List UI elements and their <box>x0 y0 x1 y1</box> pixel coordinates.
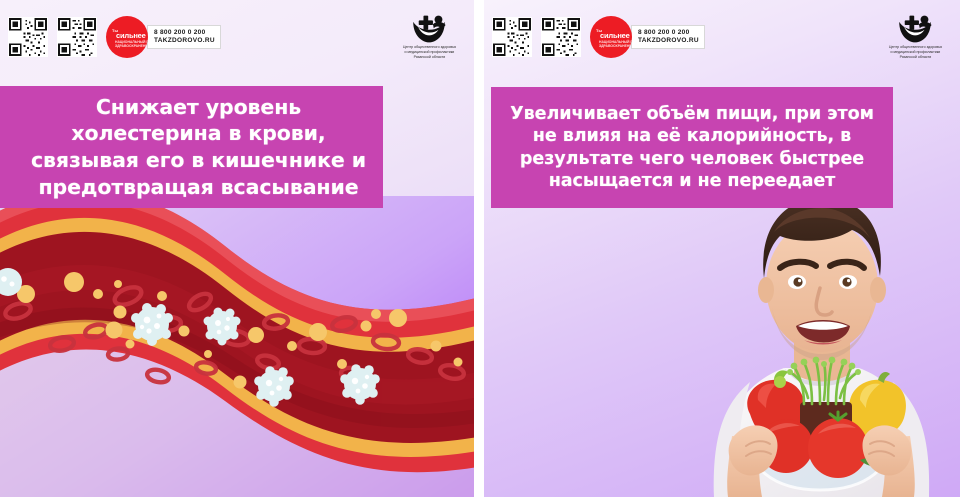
brand-website[interactable]: TAKZDOROVO.RU <box>154 37 215 45</box>
hotline-phone[interactable]: 8 800 200 0 200 <box>154 29 215 37</box>
health-center-logo-icon <box>410 14 448 44</box>
headline-banner-right: Увеличивает объём пищи, при этом не влия… <box>491 87 893 208</box>
headline-text-right: Увеличивает объём пищи, при этом не влия… <box>491 103 893 192</box>
qr-code-icon-1[interactable] <box>492 17 532 57</box>
qr-code-icon-1[interactable] <box>8 17 48 57</box>
ty-silnee-logo-icon[interactable]: Ты сильнее НАЦИОНАЛЬНЫЙ ПРОЕКТ ЗДРАВООХР… <box>106 16 148 58</box>
logo-line-4: ЗДРАВООХРАНЕНИЕ <box>599 44 632 48</box>
header-brand-group: Ты сильнее НАЦИОНАЛЬНЫЙ ПРОЕКТ ЗДРАВООХР… <box>492 16 705 58</box>
headline-banner-left: Снижает уровень холестерина в крови, свя… <box>0 86 383 208</box>
poster-pair-canvas: Ты сильнее НАЦИОНАЛЬНЫЙ ПРОЕКТ ЗДРАВООХР… <box>0 0 960 497</box>
logo-line-2: сильнее <box>600 31 630 40</box>
org-caption-line-3: Рязанской области <box>403 55 456 60</box>
poster-satiety: Ты сильнее НАЦИОНАЛЬНЫЙ ПРОЕКТ ЗДРАВООХР… <box>484 0 960 497</box>
poster-header-left: Ты сильнее НАЦИОНАЛЬНЫЙ ПРОЕКТ ЗДРАВООХР… <box>0 0 474 74</box>
brand-contact-box: 8 800 200 0 200 TAKZDOROVO.RU <box>147 25 221 49</box>
header-brand-group: Ты сильнее НАЦИОНАЛЬНЫЙ ПРОЕКТ ЗДРАВООХР… <box>8 16 221 58</box>
man-with-vegetables-illustration <box>654 168 960 497</box>
blood-vessel-illustration <box>0 196 474 497</box>
logo-line-2: сильнее <box>116 31 146 40</box>
poster-cholesterol: Ты сильнее НАЦИОНАЛЬНЫЙ ПРОЕКТ ЗДРАВООХР… <box>0 0 474 497</box>
brand-website[interactable]: TAKZDOROVO.RU <box>638 37 699 45</box>
org-caption-line-3: Рязанской области <box>889 55 942 60</box>
poster-divider <box>474 0 484 497</box>
health-center-lockup: Центр общественного здоровья и медицинск… <box>889 14 948 60</box>
health-center-lockup: Центр общественного здоровья и медицинск… <box>403 14 462 60</box>
health-center-logo-icon <box>896 14 934 44</box>
qr-code-icon-2[interactable] <box>57 17 97 57</box>
ty-silnee-logo-icon[interactable]: Ты сильнее НАЦИОНАЛЬНЫЙ ПРОЕКТ ЗДРАВООХР… <box>590 16 632 58</box>
takzdorovo-brand-lockup[interactable]: Ты сильнее НАЦИОНАЛЬНЫЙ ПРОЕКТ ЗДРАВООХР… <box>106 16 221 58</box>
poster-header-right: Ты сильнее НАЦИОНАЛЬНЫЙ ПРОЕКТ ЗДРАВООХР… <box>484 0 960 74</box>
brand-contact-box: 8 800 200 0 200 TAKZDOROVO.RU <box>631 25 705 49</box>
headline-text-left: Снижает уровень холестерина в крови, свя… <box>0 94 383 201</box>
health-center-caption: Центр общественного здоровья и медицинск… <box>889 45 942 60</box>
health-center-caption: Центр общественного здоровья и медицинск… <box>403 45 456 60</box>
takzdorovo-brand-lockup[interactable]: Ты сильнее НАЦИОНАЛЬНЫЙ ПРОЕКТ ЗДРАВООХР… <box>590 16 705 58</box>
logo-line-4: ЗДРАВООХРАНЕНИЕ <box>115 44 148 48</box>
hotline-phone[interactable]: 8 800 200 0 200 <box>638 29 699 37</box>
qr-code-icon-2[interactable] <box>541 17 581 57</box>
